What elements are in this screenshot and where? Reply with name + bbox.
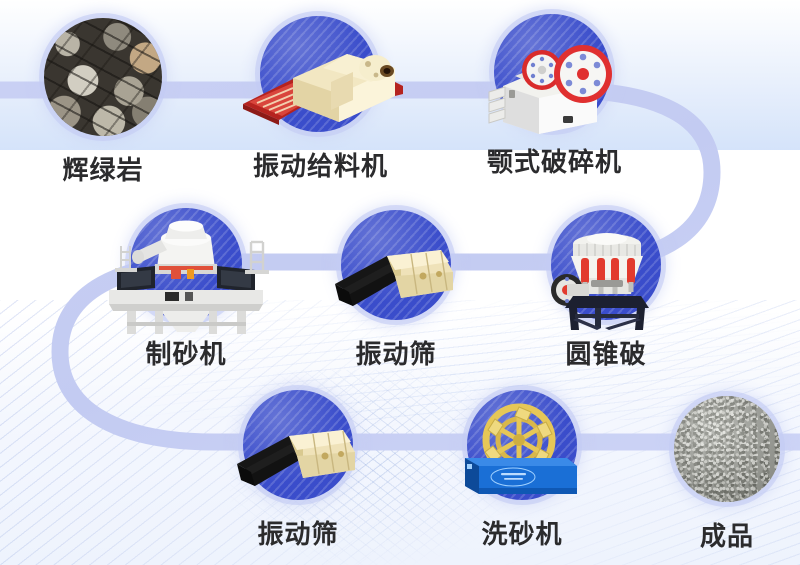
vibrating-screen-icon [243,390,353,500]
finished-aggregate-photo [674,396,780,502]
gravel-texture [674,396,780,502]
node-vibrating-screen-upper[interactable]: 振动筛 [333,210,459,320]
node-label-cone-crusher: 圆锥破 [543,334,669,371]
node-label-finished-product: 成品 [664,516,790,553]
process-flow-diagram: 辉绿岩 [0,0,800,565]
node-cone-crusher[interactable]: 圆锥破 [543,210,669,320]
node-sand-making-machine[interactable]: 制砂机 [123,208,249,320]
jaw-crusher-icon [494,14,610,130]
diabase-rock-photo [44,18,162,136]
node-label-sand-making-machine: 制砂机 [123,334,249,371]
node-finished-product[interactable]: 成品 [664,396,790,502]
sand-washer-icon [467,390,577,500]
node-vibrating-screen-lower[interactable]: 振动筛 [235,390,361,500]
node-label-vibrating-screen-upper: 振动筛 [333,334,459,371]
node-jaw-crusher[interactable]: 颚式破碎机 [487,14,617,130]
vibrating-feeder-icon [260,16,376,132]
vibrating-screen-icon [341,210,451,320]
node-vibrating-feeder[interactable]: 振动给料机 [253,16,383,132]
cone-crusher-icon [551,210,661,320]
node-label-sand-washer: 洗砂机 [459,514,585,551]
node-label-vibrating-screen-lower: 振动筛 [235,514,361,551]
node-diabase[interactable]: 辉绿岩 [40,18,166,136]
rock-texture [44,18,162,136]
sand-making-machine-icon [130,208,242,320]
node-label-diabase: 辉绿岩 [40,150,166,187]
node-label-jaw-crusher: 颚式破碎机 [487,142,617,179]
node-sand-washer[interactable]: 洗砂机 [459,390,585,500]
node-label-vibrating-feeder: 振动给料机 [253,146,383,183]
